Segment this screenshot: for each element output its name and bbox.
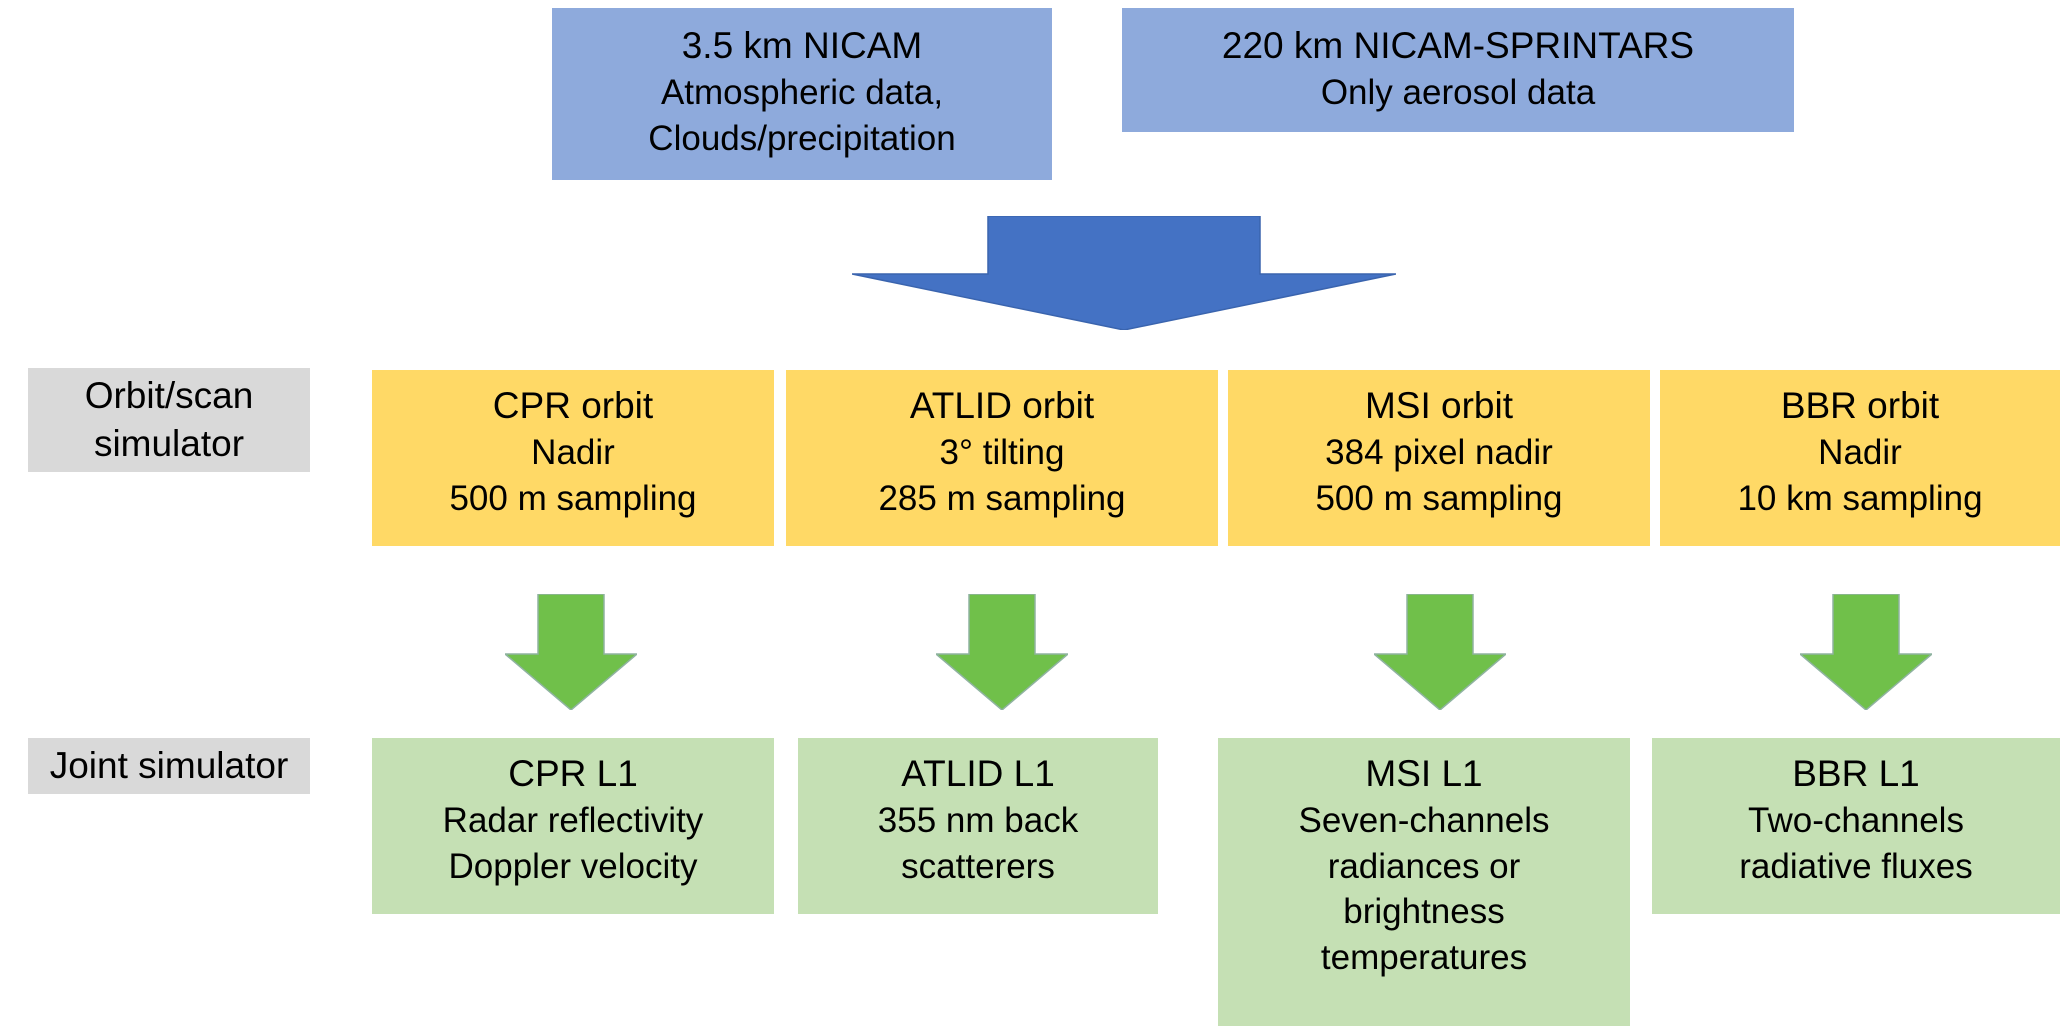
model-box-line: Only aerosol data xyxy=(1321,70,1595,116)
stage-label-joint-simulator: Joint simulator xyxy=(28,738,310,794)
cpr-orbit-to-l1-arrow xyxy=(505,594,637,710)
product-box-line: scatterers xyxy=(901,844,1055,890)
product-box-line: Seven-channels xyxy=(1299,798,1550,844)
orbit-box-title: CPR orbit xyxy=(493,382,653,430)
orbit-box-line: 384 pixel nadir xyxy=(1325,430,1553,476)
orbit-box-msi-orbit: MSI orbit 384 pixel nadir 500 m sampling xyxy=(1228,370,1650,546)
product-box-line: Two-channels xyxy=(1748,798,1964,844)
model-box-line: Atmospheric data, xyxy=(661,70,943,116)
product-box-line: brightness xyxy=(1343,889,1504,935)
product-box-line: temperatures xyxy=(1321,935,1527,981)
orbit-box-title: BBR orbit xyxy=(1781,382,1939,430)
product-box-line: radiances or xyxy=(1328,844,1521,890)
product-box-line: Radar reflectivity xyxy=(443,798,704,844)
stage-label-orbit-scan-simulator: Orbit/scan simulator xyxy=(28,368,310,472)
product-box-line: Doppler velocity xyxy=(449,844,698,890)
product-box-title: MSI L1 xyxy=(1365,750,1482,798)
orbit-box-line: 500 m sampling xyxy=(1315,476,1562,522)
model-box-line: Clouds/precipitation xyxy=(648,116,955,162)
orbit-box-line: 10 km sampling xyxy=(1737,476,1982,522)
orbit-box-bbr-orbit: BBR orbit Nadir 10 km sampling xyxy=(1660,370,2060,546)
model-box-nicam-3p5km: 3.5 km NICAM Atmospheric data, Clouds/pr… xyxy=(552,8,1052,180)
orbit-box-title: ATLID orbit xyxy=(910,382,1094,430)
product-box-line: radiative fluxes xyxy=(1739,844,1972,890)
diagram-canvas: 3.5 km NICAM Atmospheric data, Clouds/pr… xyxy=(0,0,2067,1032)
stage-label-line: simulator xyxy=(94,420,244,468)
orbit-box-line: 500 m sampling xyxy=(449,476,696,522)
bbr-orbit-to-l1-arrow xyxy=(1800,594,1932,710)
model-to-orbit-arrow xyxy=(852,216,1396,330)
msi-orbit-to-l1-arrow xyxy=(1374,594,1506,710)
orbit-box-line: Nadir xyxy=(531,430,615,476)
orbit-box-line: 3° tilting xyxy=(940,430,1065,476)
product-box-atlid-l1: ATLID L1 355 nm back scatterers xyxy=(798,738,1158,914)
product-box-msi-l1: MSI L1 Seven-channels radiances or brigh… xyxy=(1218,738,1630,1026)
product-box-title: BBR L1 xyxy=(1792,750,1920,798)
stage-label-line: Orbit/scan xyxy=(85,372,254,420)
stage-label-line: Joint simulator xyxy=(50,742,289,790)
orbit-box-title: MSI orbit xyxy=(1365,382,1513,430)
orbit-box-line: Nadir xyxy=(1818,430,1902,476)
orbit-box-atlid-orbit: ATLID orbit 3° tilting 285 m sampling xyxy=(786,370,1218,546)
product-box-line: 355 nm back xyxy=(878,798,1078,844)
product-box-cpr-l1: CPR L1 Radar reflectivity Doppler veloci… xyxy=(372,738,774,914)
product-box-bbr-l1: BBR L1 Two-channels radiative fluxes xyxy=(1652,738,2060,914)
model-box-title: 3.5 km NICAM xyxy=(682,22,923,70)
model-box-title: 220 km NICAM-SPRINTARS xyxy=(1222,22,1694,70)
atlid-orbit-to-l1-arrow xyxy=(936,594,1068,710)
orbit-box-line: 285 m sampling xyxy=(878,476,1125,522)
orbit-box-cpr-orbit: CPR orbit Nadir 500 m sampling xyxy=(372,370,774,546)
product-box-title: ATLID L1 xyxy=(901,750,1055,798)
product-box-title: CPR L1 xyxy=(508,750,638,798)
model-box-nicam-sprintars-220km: 220 km NICAM-SPRINTARS Only aerosol data xyxy=(1122,8,1794,132)
